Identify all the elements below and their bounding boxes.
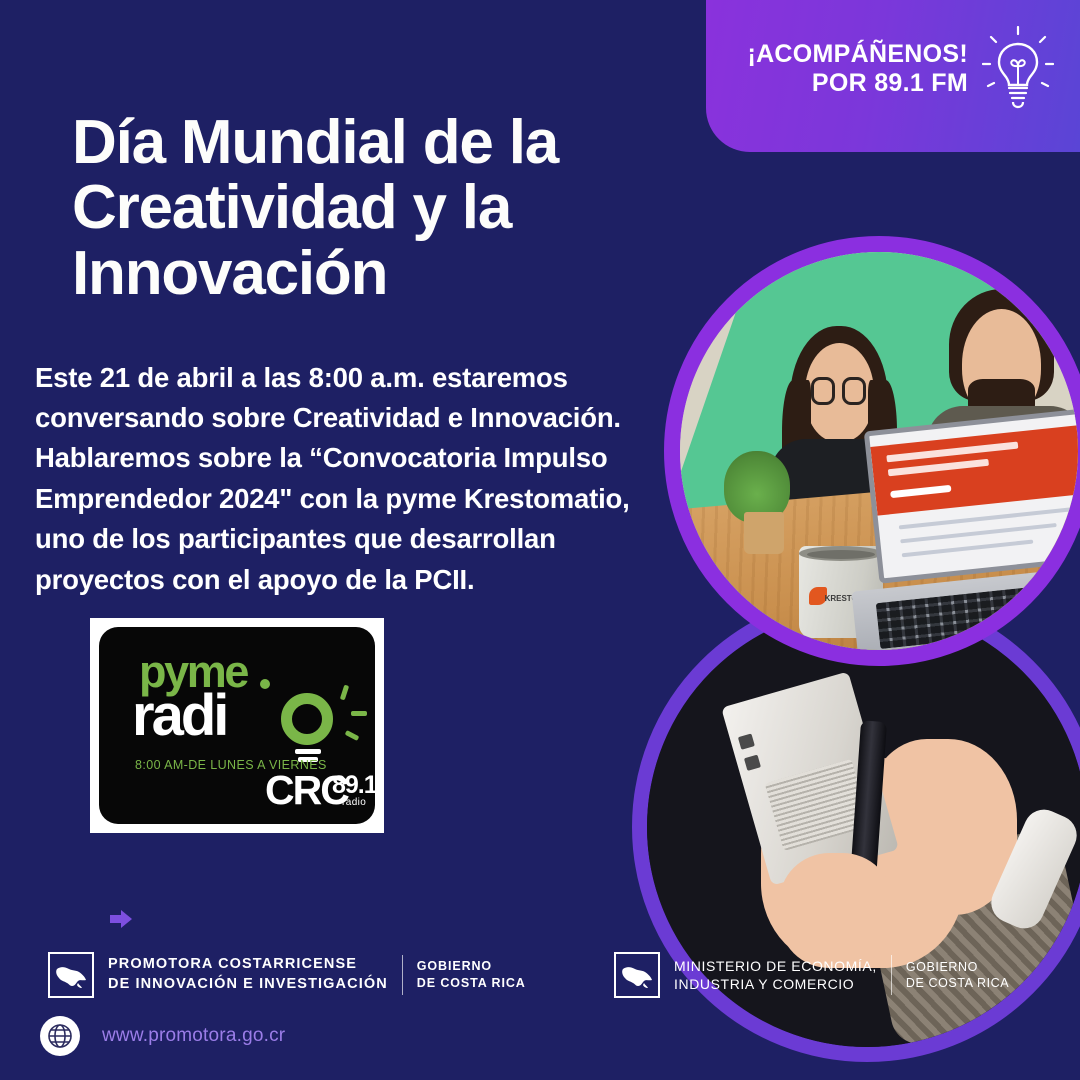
poster-canvas: ¡ACOMPÁÑENOS! POR 89.1 FM Día Mundial de… xyxy=(0,0,1080,1080)
badge-line-2: POR 89.1 FM xyxy=(812,69,968,99)
frequency-badge: ¡ACOMPÁÑENOS! POR 89.1 FM xyxy=(706,0,1080,152)
badge-text: ¡ACOMPÁÑENOS! POR 89.1 FM xyxy=(747,40,968,99)
logo-frequency: 89.1 xyxy=(332,773,375,798)
arrow-right-icon xyxy=(110,910,132,928)
footer-org-name: PROMOTORA COSTARRICENSE DE INNOVACIÓN E … xyxy=(108,955,388,994)
lightbulb-icon xyxy=(982,26,1054,112)
logo-brand-bottom: radi xyxy=(132,687,226,745)
footer-logo-promotora: PROMOTORA COSTARRICENSE DE INNOVACIÓN E … xyxy=(48,952,526,998)
pyme-radio-logo: pyme radi 8:00 AM-DE LUNES A VIERNES CRC… xyxy=(90,618,384,833)
logo-bulb-icon xyxy=(281,693,333,745)
footer: PROMOTORA COSTARRICENSE DE INNOVACIÓN E … xyxy=(0,944,1080,1016)
website-url[interactable]: www.promotora.go.cr xyxy=(102,1025,285,1047)
globe-icon xyxy=(40,1016,80,1056)
footer-logo-meic: MINISTERIO DE ECONOMÍA, INDUSTRIA Y COME… xyxy=(614,952,1009,998)
logo-dot-icon xyxy=(260,679,270,689)
website-row[interactable]: www.promotora.go.cr xyxy=(40,1016,285,1056)
interview-photo: KRESTOMATIO xyxy=(664,236,1080,666)
costa-rica-map-crest-icon xyxy=(614,952,660,998)
body-paragraph: Este 21 de abril a las 8:00 a.m. estarem… xyxy=(35,358,675,601)
footer-gov-label: GOBIERNO DE COSTA RICA xyxy=(417,958,526,992)
footer-divider xyxy=(891,955,892,995)
footer-gov-label: GOBIERNO DE COSTA RICA xyxy=(906,959,1009,992)
footer-org-name: MINISTERIO DE ECONOMÍA, INDUSTRIA Y COME… xyxy=(674,957,877,993)
page-title: Día Mundial de la Creatividad y la Innov… xyxy=(72,110,672,307)
logo-station-suffix: radio xyxy=(342,797,366,808)
badge-line-1: ¡ACOMPÁÑENOS! xyxy=(747,40,968,70)
footer-divider xyxy=(402,955,403,995)
costa-rica-map-crest-icon xyxy=(48,952,94,998)
